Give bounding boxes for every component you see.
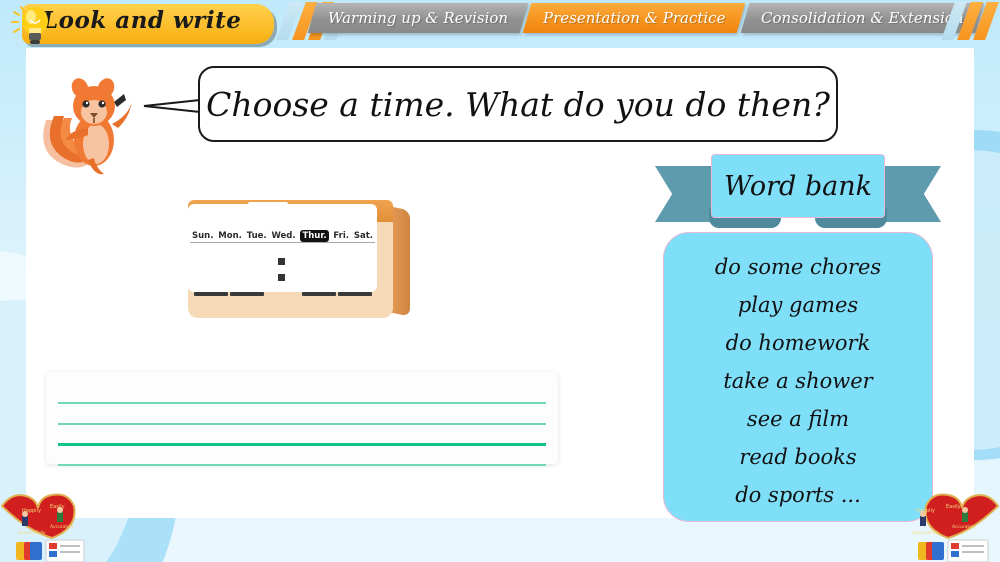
calendar-dash-1	[194, 292, 228, 296]
speech-bubble-text: Choose a time. What do you do then?	[206, 85, 830, 124]
svg-text:Accurately: Accurately	[50, 524, 74, 530]
speech-bubble-tail	[142, 98, 202, 114]
header-bar: Look and write Warming up & Revision	[0, 0, 1000, 48]
writing-lines-card[interactable]	[46, 372, 558, 464]
svg-text:Easily: Easily	[946, 504, 961, 510]
writing-line-4	[58, 464, 546, 466]
tab-warming-up-label: Warming up & Revision	[328, 9, 508, 27]
calendar-dash-gap	[266, 292, 300, 296]
word-bank-title-plate: Word bank	[711, 154, 885, 218]
calendar-marker-2	[278, 274, 285, 281]
award-badge-icon-right: Happily Easily Successfully Accurately	[904, 490, 1000, 562]
calendar-day-wed: Wed.	[271, 231, 295, 241]
calendar-dash-row	[194, 292, 372, 296]
calendar-illustration: Sun. Mon. Tue. Wed. Thur. Fri. Sat.	[180, 196, 412, 326]
word-bank-item-6[interactable]: read books	[739, 445, 856, 469]
page-title: Look and write	[42, 7, 241, 34]
writing-line-2	[58, 423, 546, 425]
word-bank-item-3[interactable]: do homework	[726, 331, 871, 355]
speech-bubble: Choose a time. What do you do then?	[198, 66, 838, 142]
calendar-day-sat: Sat.	[354, 231, 373, 241]
word-bank-item-5[interactable]: see a film	[747, 407, 849, 431]
tab-presentation-practice[interactable]: Presentation & Practice	[523, 3, 746, 33]
svg-text:Accurately: Accurately	[952, 524, 976, 530]
lightbulb-icon	[10, 2, 56, 48]
word-bank-item-1[interactable]: do some chores	[715, 255, 881, 279]
word-bank-item-2[interactable]: play games	[738, 293, 858, 317]
word-bank-panel: do some chores play games do homework ta…	[663, 232, 933, 522]
calendar-day-mon: Mon.	[218, 231, 242, 241]
calendar-day-thur: Thur.	[300, 230, 328, 242]
word-bank-title: Word bank	[724, 171, 872, 202]
calendar-day-tue: Tue.	[247, 231, 267, 241]
writing-line-baseline	[58, 443, 546, 446]
calendar-dash-3	[302, 292, 336, 296]
writing-line-1	[58, 402, 546, 404]
word-bank: Word bank do some chores play games do h…	[655, 152, 941, 524]
header-slashes-right	[948, 2, 992, 40]
calendar-divider	[190, 242, 375, 243]
svg-text:Successfully: Successfully	[18, 530, 46, 536]
slide-canvas: Look and write Warming up & Revision	[0, 0, 1000, 562]
calendar-dash-2	[230, 292, 264, 296]
calendar-day-row: Sun. Mon. Tue. Wed. Thur. Fri. Sat.	[192, 230, 373, 242]
tab-consolidation-extension-label: Consolidation & Extension	[761, 9, 964, 27]
squirrel-icon	[28, 62, 148, 182]
calendar-day-fri: Fri.	[333, 231, 349, 241]
tab-presentation-practice-label: Presentation & Practice	[543, 9, 725, 27]
tab-warming-up[interactable]: Warming up & Revision	[308, 3, 529, 33]
calendar-marker-1	[278, 258, 285, 265]
award-badge-icon-left: Happily Easily Successfully Accurately	[0, 490, 96, 562]
calendar-dash-4	[338, 292, 372, 296]
word-bank-item-4[interactable]: take a shower	[723, 369, 872, 393]
nav-tabs: Warming up & Revision Presentation & Pra…	[312, 3, 979, 33]
calendar-day-sun: Sun.	[192, 231, 213, 241]
word-bank-item-7[interactable]: do sports ...	[735, 483, 861, 507]
svg-text:Successfully: Successfully	[912, 530, 940, 536]
